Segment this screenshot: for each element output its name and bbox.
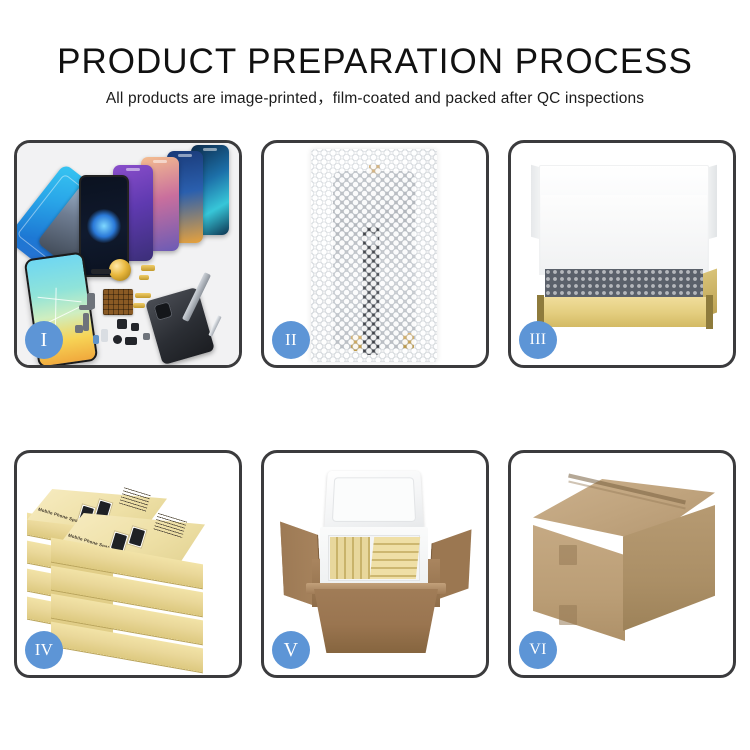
- step-badge-3: III: [519, 321, 557, 359]
- spare-part-icon: [133, 303, 145, 308]
- spare-part-icon: [143, 333, 150, 340]
- bubble-wrap-bag: [311, 149, 437, 362]
- process-step-panel-5[interactable]: V: [261, 450, 489, 678]
- process-step-panel-2[interactable]: II: [261, 140, 489, 368]
- carton-body: [314, 589, 438, 653]
- carton-tape-tab: [559, 605, 577, 625]
- inner-boxes-right: [370, 537, 420, 579]
- spare-part-icon: [131, 323, 139, 331]
- phone-notch-icon: [178, 154, 192, 157]
- inner-boxes-left: [330, 537, 370, 579]
- spare-part-icon: [91, 269, 111, 274]
- crack-line-icon: [38, 297, 82, 303]
- box-corner-right: [706, 295, 713, 329]
- spare-part-icon: [139, 275, 149, 280]
- spare-part-icon: [93, 335, 99, 344]
- spare-part-icon: [83, 313, 89, 331]
- box-front-panel: [537, 297, 713, 327]
- phone-notch-icon: [153, 160, 167, 163]
- spare-part-icon: [125, 337, 137, 345]
- step-badge-1: I: [25, 321, 63, 359]
- process-step-panel-6[interactable]: VI: [508, 450, 736, 678]
- process-step-panel-3[interactable]: III: [508, 140, 736, 368]
- spare-part-icon: [113, 335, 122, 344]
- step-badge-2: II: [272, 321, 310, 359]
- spare-part-icon: [141, 265, 155, 271]
- spare-part-icon: [117, 319, 127, 329]
- spare-part-icon: [101, 329, 108, 342]
- spare-part-icon: [75, 325, 83, 333]
- phone-notch-icon: [203, 148, 217, 151]
- step-badge-6: VI: [519, 631, 557, 669]
- step-badge-5: V: [272, 631, 310, 669]
- carton-front-face: [533, 525, 625, 641]
- step-badge-4: IV: [25, 631, 63, 669]
- spare-part-icon: [79, 305, 93, 310]
- process-step-panel-4[interactable]: Mobile Phone Spare Parts Mobile Phone Sp…: [14, 450, 242, 678]
- spare-part-icon: [135, 293, 151, 298]
- process-step-grid: I II III: [0, 0, 750, 750]
- styrofoam-lid: [324, 471, 424, 531]
- carton-tape-tab: [559, 545, 577, 565]
- bubble-wrapped-contents: [545, 269, 703, 299]
- process-step-panel-1[interactable]: I: [14, 140, 242, 368]
- foam-sheet: [541, 195, 707, 269]
- speaker-coil-icon: [109, 259, 131, 281]
- chip-array-icon: [103, 289, 133, 315]
- phone-notch-icon: [126, 168, 140, 171]
- bubble-texture-icon: [311, 149, 437, 362]
